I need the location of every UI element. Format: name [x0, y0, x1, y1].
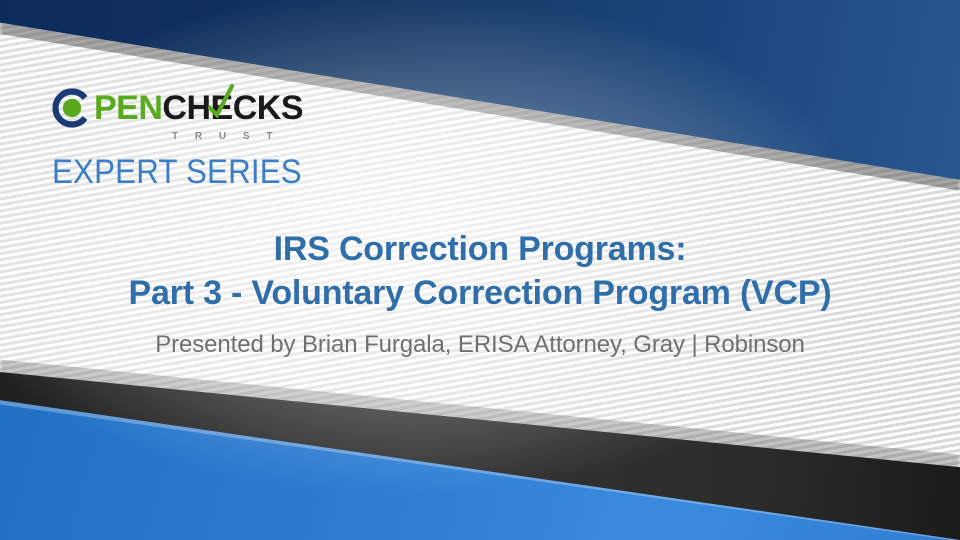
- open-checks-ring-icon: [52, 88, 92, 128]
- logo-word-checks: CHECKS: [162, 89, 303, 127]
- logo-wordmark-row: PENCHECKS: [52, 86, 392, 130]
- logo-tagline: T R U S T: [172, 131, 392, 142]
- expert-series-label: EXPERT SERIES: [52, 153, 365, 192]
- slide-title-line-1: IRS Correction Programs:: [60, 228, 900, 272]
- presenter-line: Presented by Brian Furgala, ERISA Attorn…: [60, 331, 900, 359]
- title-block: IRS Correction Programs: Part 3 - Volunt…: [0, 228, 960, 359]
- logo-word-pen: PEN: [94, 89, 162, 127]
- presentation-slide: PENCHECKS T R U S T EXPERT SERIES IRS Co…: [0, 0, 960, 540]
- logo-wordmark: PENCHECKS: [94, 88, 303, 128]
- slide-title-line-2: Part 3 - Voluntary Correction Program (V…: [60, 272, 900, 316]
- brand-logo-block: PENCHECKS T R U S T EXPERT SERIES: [52, 86, 392, 192]
